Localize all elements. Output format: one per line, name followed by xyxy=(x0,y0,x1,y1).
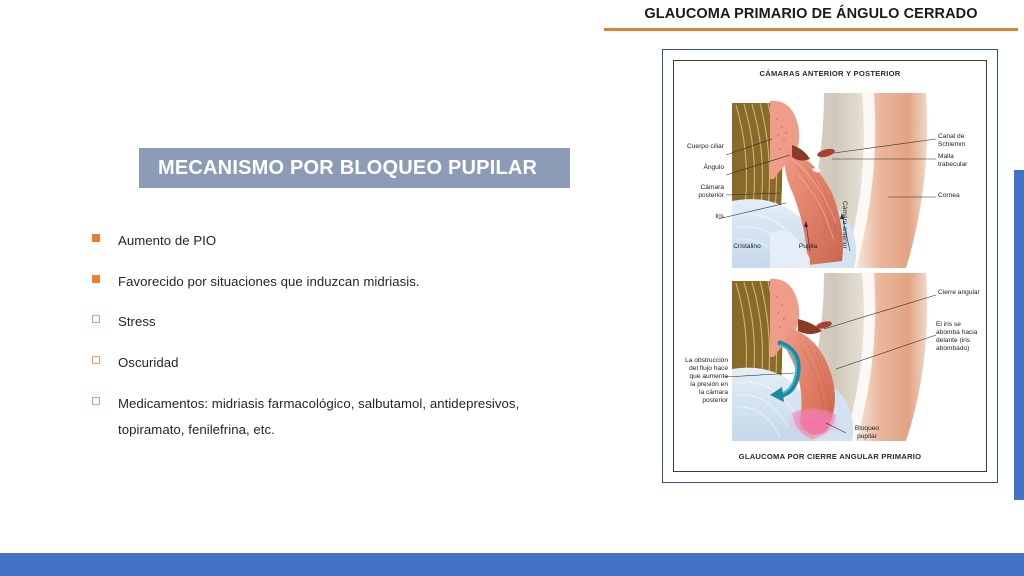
label-angulo: Ángulo xyxy=(680,164,724,172)
bullet-square-icon xyxy=(92,234,100,242)
list-item-label: Medicamentos: midriasis farmacológico, s… xyxy=(118,391,562,442)
footer-accent-bar xyxy=(0,553,1024,576)
list-item: Stress xyxy=(92,309,562,335)
list-item-label: Favorecido por situaciones que induzcan … xyxy=(118,269,420,295)
upper-panel-caption: CÁMARAS ANTERIOR Y POSTERIOR xyxy=(674,69,986,78)
anatomy-figure-inner: CÁMARAS ANTERIOR Y POSTERIOR xyxy=(673,60,987,472)
bullet-square-outline-icon xyxy=(92,356,100,364)
label-canal-de-schlemm: Canal de Schlemm xyxy=(938,133,986,149)
bullet-list: Aumento de PIO Favorecido por situacione… xyxy=(92,228,562,457)
list-item: Favorecido por situaciones que induzcan … xyxy=(92,269,562,295)
bullet-square-outline-icon xyxy=(92,397,100,405)
list-item-label: Aumento de PIO xyxy=(118,228,216,254)
list-item: Oscuridad xyxy=(92,350,562,376)
label-cuerpo-ciliar: Cuerpo ciliar xyxy=(680,143,724,151)
label-cristalino: Cristalino xyxy=(720,243,774,251)
lower-panel-illustration: La obstrucción del flujo hace que aument… xyxy=(674,273,986,458)
section-heading-text: MECANISMO POR BLOQUEO PUPILAR xyxy=(139,157,537,180)
section-heading-banner: MECANISMO POR BLOQUEO PUPILAR xyxy=(139,148,570,188)
anatomy-figure-frame: CÁMARAS ANTERIOR Y POSTERIOR xyxy=(662,49,998,483)
list-item: Aumento de PIO xyxy=(92,228,562,254)
label-camara-anterior: Cámara anterior xyxy=(840,201,848,249)
label-iris: Iris xyxy=(680,213,724,221)
label-malla-trabecular: Malla trabecular xyxy=(938,153,986,169)
page-title: GLAUCOMA PRIMARIO DE ÁNGULO CERRADO xyxy=(604,6,1018,22)
list-item-label: Oscuridad xyxy=(118,350,179,376)
bullet-square-icon xyxy=(92,275,100,283)
bullet-square-outline-icon xyxy=(92,315,100,323)
list-item: Medicamentos: midriasis farmacológico, s… xyxy=(92,391,562,442)
title-underline-rule xyxy=(604,28,1018,31)
label-cierre-angular: Cierre angular xyxy=(938,289,988,297)
label-cornea: Cornea xyxy=(938,192,986,200)
lower-panel-caption: GLAUCOMA POR CIERRE ANGULAR PRIMARIO xyxy=(674,452,986,461)
label-iris-abombado: El iris se abomba hacia delante (iris ab… xyxy=(936,321,988,353)
label-bloqueo-pupilar: Bloqueo pupilar xyxy=(842,425,892,441)
label-obstruccion-flujo: La obstrucción del flujo hace que aument… xyxy=(676,357,728,405)
right-edge-accent-bar xyxy=(1014,170,1024,500)
list-item-label: Stress xyxy=(118,309,156,335)
upper-panel-illustration: Cuerpo ciliar Ángulo Cámara posterior Ir… xyxy=(674,83,986,268)
label-camara-posterior: Cámara posterior xyxy=(680,184,724,200)
label-pupila: Pupila xyxy=(786,243,830,251)
